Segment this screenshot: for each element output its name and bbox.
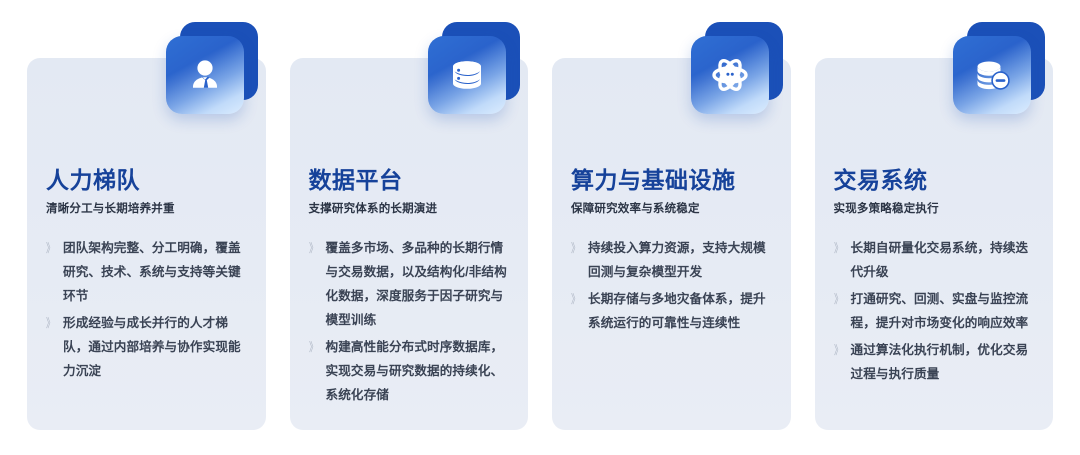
card-computing-infrastructure[interactable]: 算力与基础设施 保障研究效率与系统稳定 》 持续投入算力资源，支持大规模回测与复…: [552, 58, 791, 430]
chevron-double-right-icon: 》: [46, 311, 59, 335]
list-item: 》 团队架构完整、分工明确，覆盖研究、技术、系统与支持等关键环节: [46, 236, 252, 308]
list-item: 》 长期存储与多地灾备体系，提升系统运行的可靠性与连续性: [571, 287, 777, 335]
atom-icon: [691, 36, 769, 114]
card-title: 数据平台: [309, 168, 403, 193]
list-item: 》 持续投入算力资源，支持大规模回测与复杂模型开发: [571, 236, 777, 284]
list-item: 》 通过算法化执行机制，优化交易过程与执行质量: [834, 338, 1040, 386]
chevron-double-right-icon: 》: [309, 236, 322, 260]
list-item-text: 持续投入算力资源，支持大规模回测与复杂模型开发: [588, 236, 777, 284]
list-item: 》 覆盖多市场、多品种的长期行情与交易数据，以及结构化/非结构化数据，深度服务于…: [309, 236, 515, 332]
list-item-text: 形成经验与成长并行的人才梯队，通过内部培养与协作实现能力沉淀: [63, 311, 252, 383]
chevron-double-right-icon: 》: [834, 287, 847, 311]
list-item-text: 覆盖多市场、多品种的长期行情与交易数据，以及结构化/非结构化数据，深度服务于因子…: [326, 236, 515, 332]
card-subtitle: 支撑研究体系的长期演进: [309, 203, 438, 217]
chevron-double-right-icon: 》: [834, 236, 847, 260]
list-item-text: 打通研究、回测、实盘与监控流程，提升对市场变化的响应效率: [851, 287, 1040, 335]
card-human-resources[interactable]: 人力梯队 清晰分工与长期培养并重 》 团队架构完整、分工明确，覆盖研究、技术、系…: [27, 58, 266, 430]
list-item: 》 构建高性能分布式时序数据库，实现交易与研究数据的持续化、系统化存储: [309, 335, 515, 407]
list-item-text: 通过算法化执行机制，优化交易过程与执行质量: [851, 338, 1040, 386]
chevron-double-right-icon: 》: [309, 335, 322, 359]
database-icon: [428, 36, 506, 114]
card-title: 交易系统: [834, 168, 928, 193]
card-data-platform[interactable]: 数据平台 支撑研究体系的长期演进 》 覆盖多市场、多品种的长期行情与交易数据，以…: [290, 58, 529, 430]
list-item-text: 长期存储与多地灾备体系，提升系统运行的可靠性与连续性: [588, 287, 777, 335]
chevron-double-right-icon: 》: [571, 236, 584, 260]
icon-tile: [428, 22, 520, 114]
chevron-double-right-icon: 》: [834, 338, 847, 362]
coins-stack-icon: [953, 36, 1031, 114]
card-title: 算力与基础设施: [571, 168, 736, 193]
bullet-list: 》 覆盖多市场、多品种的长期行情与交易数据，以及结构化/非结构化数据，深度服务于…: [309, 236, 515, 410]
icon-tile: [166, 22, 258, 114]
bullet-list: 》 团队架构完整、分工明确，覆盖研究、技术、系统与支持等关键环节 》 形成经验与…: [46, 236, 252, 386]
list-item-text: 构建高性能分布式时序数据库，实现交易与研究数据的持续化、系统化存储: [326, 335, 515, 407]
card-subtitle: 实现多策略稳定执行: [834, 203, 939, 217]
bullet-list: 》 长期自研量化交易系统，持续迭代升级 》 打通研究、回测、实盘与监控流程，提升…: [834, 236, 1040, 389]
list-item-text: 长期自研量化交易系统，持续迭代升级: [851, 236, 1040, 284]
card-trading-system[interactable]: 交易系统 实现多策略稳定执行 》 长期自研量化交易系统，持续迭代升级 》 打通研…: [815, 58, 1054, 430]
icon-tile: [953, 22, 1045, 114]
list-item-text: 团队架构完整、分工明确，覆盖研究、技术、系统与支持等关键环节: [63, 236, 252, 308]
chevron-double-right-icon: 》: [571, 287, 584, 311]
person-tie-icon: [166, 36, 244, 114]
icon-tile: [691, 22, 783, 114]
card-subtitle: 保障研究效率与系统稳定: [571, 203, 700, 217]
list-item: 》 形成经验与成长并行的人才梯队，通过内部培养与协作实现能力沉淀: [46, 311, 252, 383]
list-item: 》 长期自研量化交易系统，持续迭代升级: [834, 236, 1040, 284]
card-title: 人力梯队: [46, 168, 140, 193]
card-subtitle: 清晰分工与长期培养并重: [46, 203, 175, 217]
infographic-board: 人力梯队 清晰分工与长期培养并重 》 团队架构完整、分工明确，覆盖研究、技术、系…: [0, 0, 1080, 455]
chevron-double-right-icon: 》: [46, 236, 59, 260]
list-item: 》 打通研究、回测、实盘与监控流程，提升对市场变化的响应效率: [834, 287, 1040, 335]
bullet-list: 》 持续投入算力资源，支持大规模回测与复杂模型开发 》 长期存储与多地灾备体系，…: [571, 236, 777, 338]
card-row: 人力梯队 清晰分工与长期培养并重 》 团队架构完整、分工明确，覆盖研究、技术、系…: [27, 58, 1053, 430]
